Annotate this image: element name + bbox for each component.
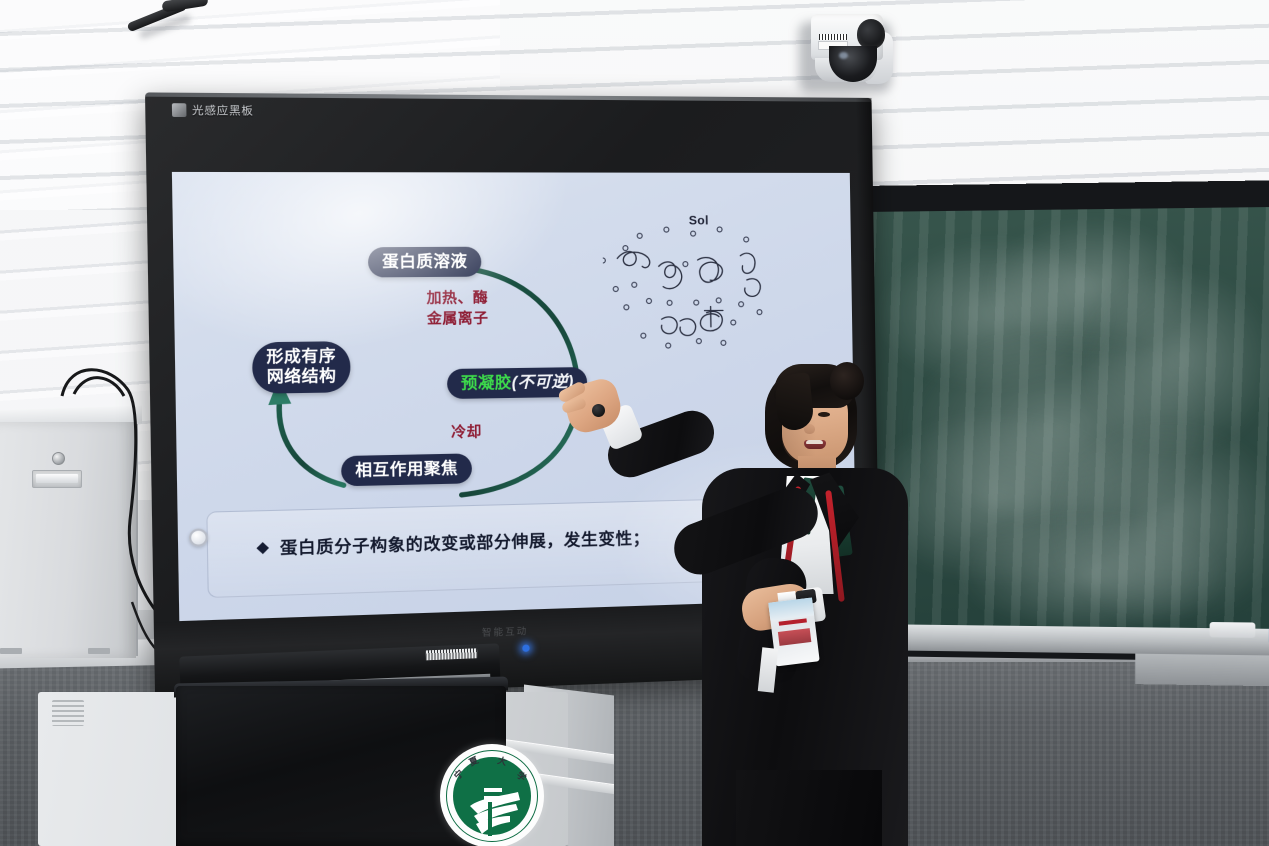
svg-text:学: 学: [515, 769, 529, 783]
annotation-heating: 加热、酶 金属离子: [426, 288, 488, 329]
camera-lens-icon: [857, 19, 885, 49]
classroom-scene: 光感应黑板: [0, 0, 1269, 846]
presenter: [560, 300, 960, 846]
smartboard-bezel-label: 智能互动: [482, 624, 529, 639]
smartboard-brand-label: 光感应黑板: [192, 102, 254, 118]
smartboard-brand: 光感应黑板: [172, 102, 254, 118]
svg-text:宁: 宁: [452, 767, 466, 781]
node-pre-gel-label: 预凝胶: [461, 374, 512, 392]
annotation-heating-line2: 金属离子: [427, 308, 489, 329]
node-interaction-focus[interactable]: 相互作用聚焦: [341, 453, 472, 486]
node-protein-solution[interactable]: 蛋白质溶液: [368, 247, 482, 278]
eye-right: [818, 412, 830, 417]
annotation-heating-line1: 加热、酶: [426, 288, 488, 309]
university-logo: 宁 夏 大 学: [440, 744, 544, 846]
ptz-dome-camera-icon: [805, 14, 897, 92]
hair-bun: [830, 362, 864, 400]
annotation-cooling: 冷却: [451, 422, 482, 443]
brand-logo-icon: [172, 103, 187, 117]
camera-barcode-label: [819, 34, 847, 40]
power-led-icon: [522, 644, 529, 651]
node-ordered-network-line1: 形成有序: [266, 348, 336, 367]
ceiling-mic-icon: [118, 0, 202, 40]
eraser-icon[interactable]: [1210, 622, 1256, 638]
svg-text:夏: 夏: [467, 754, 481, 768]
ring-icon: [592, 404, 605, 417]
podium-vent-grill: [52, 700, 84, 726]
node-ordered-network-line2: 网络结构: [267, 368, 337, 387]
svg-text:大: 大: [497, 754, 508, 767]
annotation-cooling-line1: 冷却: [451, 422, 482, 443]
podium-front-panel: 宁 夏 大 学: [176, 686, 506, 846]
bullet-diamond-icon: ◆: [256, 539, 269, 555]
teaching-podium[interactable]: 宁 夏 大 学: [24, 672, 614, 846]
node-interaction-focus-label: 相互作用聚焦: [355, 460, 458, 480]
trousers: [736, 770, 882, 846]
university-logo-text: 宁 夏 大 学: [440, 744, 544, 846]
node-ordered-network[interactable]: 形成有序 网络结构: [252, 341, 351, 393]
node-protein-solution-label: 蛋白质溶液: [382, 253, 468, 271]
